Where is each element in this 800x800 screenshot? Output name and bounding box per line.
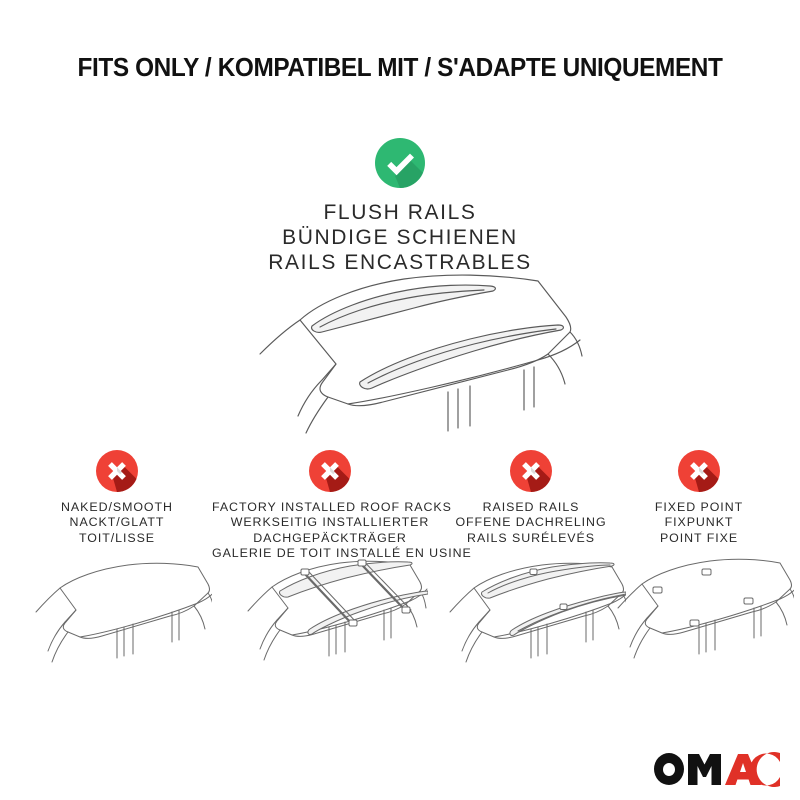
car-roof-fixed-point-illustration [604,550,794,680]
car-roof-flush-rails-illustration [208,268,608,438]
naked-smooth-label-de: NACKT/GLATT [17,515,217,530]
red-cross-circle-icon [678,450,720,492]
raised-rails-label-fr: RAILS SURÉLEVÉS [438,531,624,546]
option-naked-smooth: NAKED/SMOOTH NACKT/GLATT TOIT/LISSE [17,450,217,546]
factory-racks-label-de-1: WERKSEITIG INSTALLIERTER [212,515,448,530]
raised-rails-labels: RAISED RAILS OFFENE DACHRELING RAILS SUR… [438,500,624,546]
factory-racks-label-en: FACTORY INSTALLED ROOF RACKS [212,500,448,515]
incompatible-options-row: NAKED/SMOOTH NACKT/GLATT TOIT/LISSE [0,450,800,700]
fixed-point-label-en: FIXED POINT [614,500,784,515]
option-factory-installed-roof-racks: FACTORY INSTALLED ROOF RACKS WERKSEITIG … [212,450,448,561]
factory-racks-label-de-2: DACHGEPÄCKTRÄGER [212,531,448,546]
car-roof-raised-rails-illustration [436,550,626,680]
car-roof-with-crossbars-illustration [232,545,428,680]
option-fixed-point: FIXED POINT FIXPUNKT POINT FIXE [614,450,784,546]
flush-rails-label-en: FLUSH RAILS [0,200,800,225]
car-roof-naked-illustration [22,558,212,688]
red-cross-circle-icon [96,450,138,492]
naked-smooth-label-en: NAKED/SMOOTH [17,500,217,515]
flush-rails-label-de: BÜNDIGE SCHIENEN [0,225,800,250]
naked-smooth-label-fr: TOIT/LISSE [17,531,217,546]
fixed-point-labels: FIXED POINT FIXPUNKT POINT FIXE [614,500,784,546]
raised-rails-label-de: OFFENE DACHRELING [438,515,624,530]
compatible-option-flush-rails: FLUSH RAILS BÜNDIGE SCHIENEN RAILS ENCAS… [0,138,800,275]
omac-logo [652,751,780,787]
raised-rails-label-en: RAISED RAILS [438,500,624,515]
option-raised-rails: RAISED RAILS OFFENE DACHRELING RAILS SUR… [438,450,624,546]
fixed-point-label-de: FIXPUNKT [614,515,784,530]
green-check-circle-icon [375,138,425,188]
page-title: FITS ONLY / KOMPATIBEL MIT / S'ADAPTE UN… [18,54,782,83]
fixed-point-label-fr: POINT FIXE [614,531,784,546]
red-cross-circle-icon [510,450,552,492]
flush-rails-labels: FLUSH RAILS BÜNDIGE SCHIENEN RAILS ENCAS… [0,200,800,275]
naked-smooth-labels: NAKED/SMOOTH NACKT/GLATT TOIT/LISSE [17,500,217,546]
red-cross-circle-icon [309,450,351,492]
